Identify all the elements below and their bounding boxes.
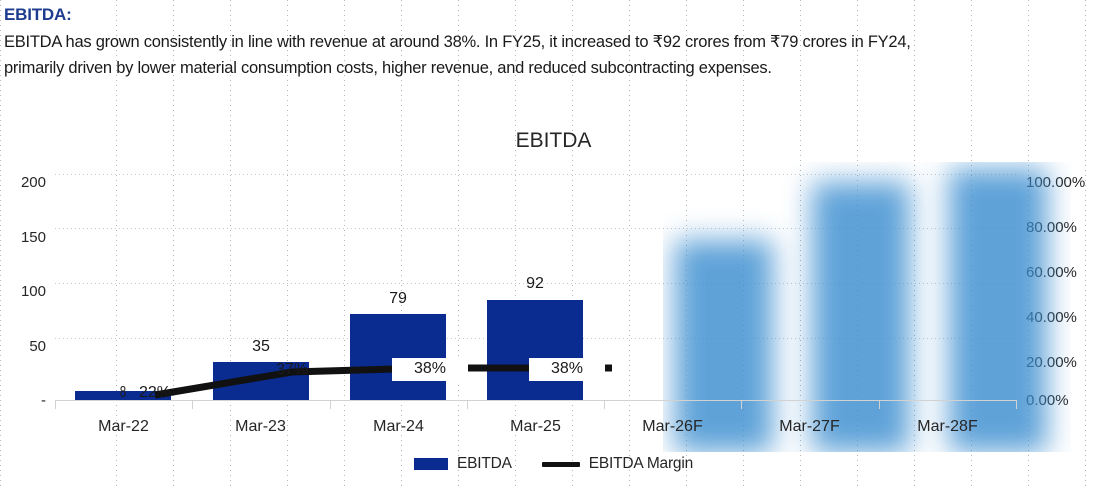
x-axis-label-mar-24: Mar-24 [330, 418, 467, 436]
y-axis-tick-50: 50 [0, 338, 46, 355]
y-axis-tick-100: 100 [0, 283, 46, 300]
bar-label-mar-24: 79 [350, 290, 446, 308]
ebitda-margin-line [55, 162, 1016, 452]
chart-legend: EBITDA EBITDA Margin [0, 455, 1107, 473]
legend-label-ebitda: EBITDA [457, 455, 512, 473]
x-axis-tick [879, 400, 880, 409]
slide-canvas: EBITDA: EBITDA has grown consistently in… [0, 0, 1107, 488]
line-swatch-icon [542, 462, 580, 467]
bar-label-mar-25: 92 [487, 275, 583, 293]
x-axis-tick [741, 400, 742, 409]
margin-label-mar-25: 38% [529, 358, 605, 381]
x-axis-line [55, 400, 1016, 401]
x-axis-tick [330, 400, 331, 409]
x-axis-tick [55, 400, 56, 409]
bar-label-mar-23: 35 [213, 338, 309, 356]
header-body-line-1: EBITDA has grown consistently in line wi… [4, 29, 1104, 55]
legend-item-ebitda[interactable]: EBITDA [414, 455, 512, 473]
x-axis-tick [604, 400, 605, 409]
ebitda-chart: EBITDA 200 150 100 50 - 100.00% 80.00% 6… [0, 110, 1107, 488]
y-axis-tick-0: - [0, 392, 46, 409]
plot-area: 8 35 79 92 22% 37% 38% 38% [55, 162, 1016, 400]
legend-label-ebitda-margin: EBITDA Margin [589, 455, 693, 473]
x-axis-tick [1016, 400, 1017, 409]
header-body-line-2: primarily driven by lower material consu… [4, 55, 1104, 81]
page-title: EBITDA: [4, 4, 1104, 26]
x-axis-tick [467, 400, 468, 409]
chart-title: EBITDA [0, 129, 1107, 153]
x-axis-label-mar-27f: Mar-27F [741, 418, 878, 436]
x-axis-label-mar-26f: Mar-26F [604, 418, 741, 436]
x-axis-label-mar-23: Mar-23 [192, 418, 329, 436]
x-axis-tick [192, 400, 193, 409]
y-axis-tick-200: 200 [0, 174, 46, 191]
x-axis-label-mar-28f: Mar-28F [879, 418, 1016, 436]
margin-label-mar-23: 37% [244, 361, 340, 379]
x-axis-label-mar-22: Mar-22 [55, 418, 192, 436]
header-block: EBITDA: EBITDA has grown consistently in… [4, 4, 1104, 81]
y-axis-tick-150: 150 [0, 229, 46, 246]
margin-label-mar-24: 38% [392, 358, 468, 381]
x-axis-label-mar-25: Mar-25 [467, 418, 604, 436]
legend-item-ebitda-margin[interactable]: EBITDA Margin [542, 455, 693, 473]
bar-swatch-icon [414, 458, 448, 470]
header-body: EBITDA has grown consistently in line wi… [4, 29, 1104, 81]
